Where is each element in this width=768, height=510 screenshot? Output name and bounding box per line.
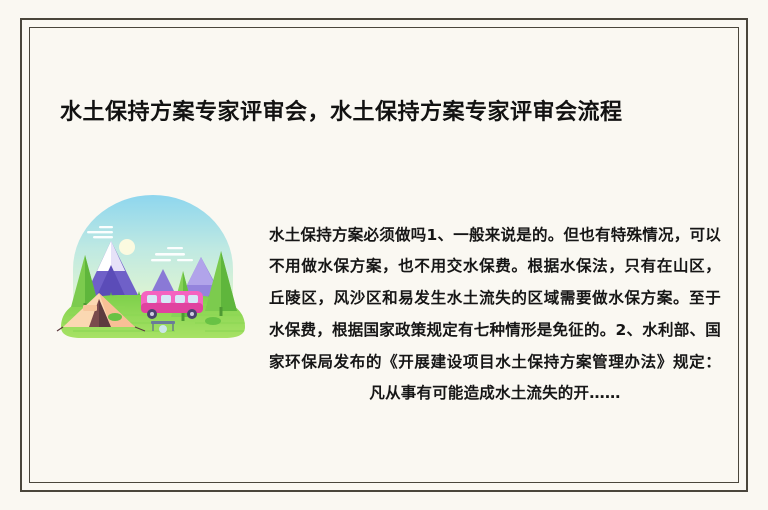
camping-scene-svg xyxy=(55,195,251,341)
sun-icon xyxy=(119,239,135,255)
article-body-text: 水土保持方案必须做吗1、一般来说是的。但也有特殊情况，可以不用做水保方案，也不用… xyxy=(269,220,721,411)
camping-scene-illustration xyxy=(55,195,251,341)
article-container: 水土保持方案专家评审会，水土保持方案专家评审会流程 xyxy=(29,27,739,483)
page-title: 水土保持方案专家评审会，水土保持方案专家评审会流程 xyxy=(60,98,710,128)
